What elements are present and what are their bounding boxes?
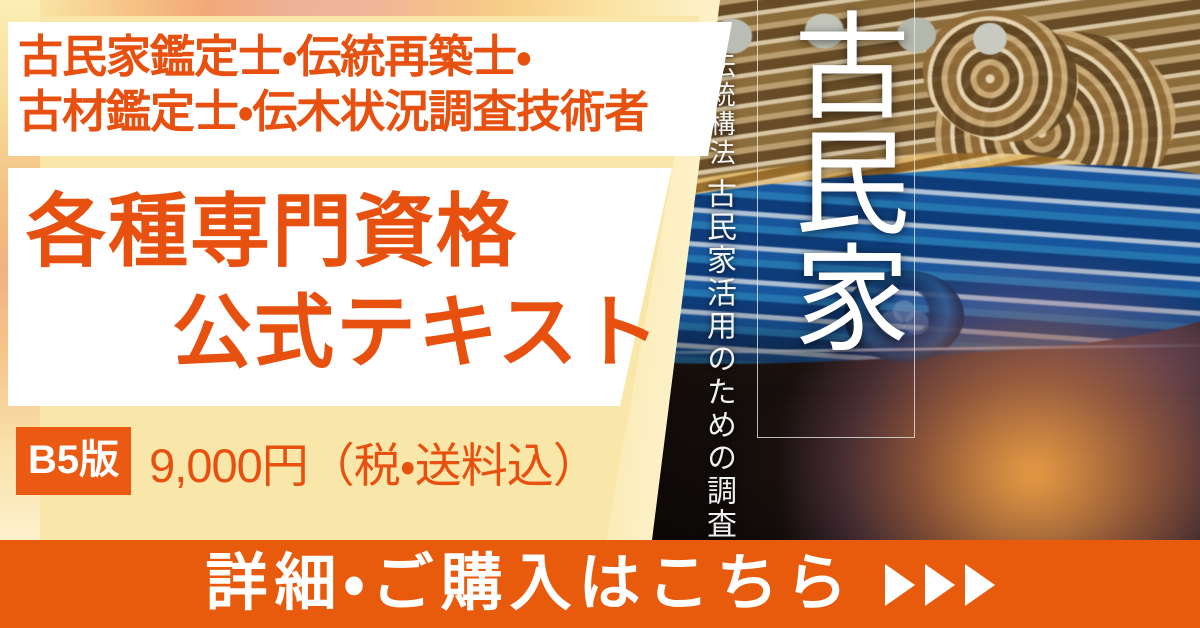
headline-line-2: 古材鑑定士・伝木状況調査技術者 [18,85,648,140]
cover-subtitle-line-2: 古民家活用のための調査と再生の [696,178,740,540]
cta-arrow-group [885,564,995,606]
cta-label: 詳細・ご購入はこちら [205,553,854,615]
main-title-line-1: 各種専門資格 [12,182,692,283]
price-amount: 9,000円（税・送料込） [149,427,599,496]
main-title-text: 各種専門資格 公式テキスト [12,182,692,384]
headline-text: 古民家鑑定士・伝統再築士・ 古材鑑定士・伝木状況調査技術者 [18,30,648,140]
chevron-right-icon [965,564,995,606]
main-title-line-2: 公式テキスト [12,283,692,384]
cover-title-vertical: 古民家 [764,6,910,354]
format-badge: B5版 [16,427,131,495]
cta-bar[interactable]: 詳細・ご購入はこちら [0,540,1200,628]
price-row: B5版 9,000円（税・送料込） [16,428,599,494]
chevron-right-icon [885,564,915,606]
headline-line-1: 古民家鑑定士・伝統再築士・ [18,30,648,85]
chevron-right-icon [925,564,955,606]
promo-banner: 伝統構法 古民家活用のための調査と再生の 古民家 古民家鑑定士・伝統再築士・ 古… [0,0,1200,628]
